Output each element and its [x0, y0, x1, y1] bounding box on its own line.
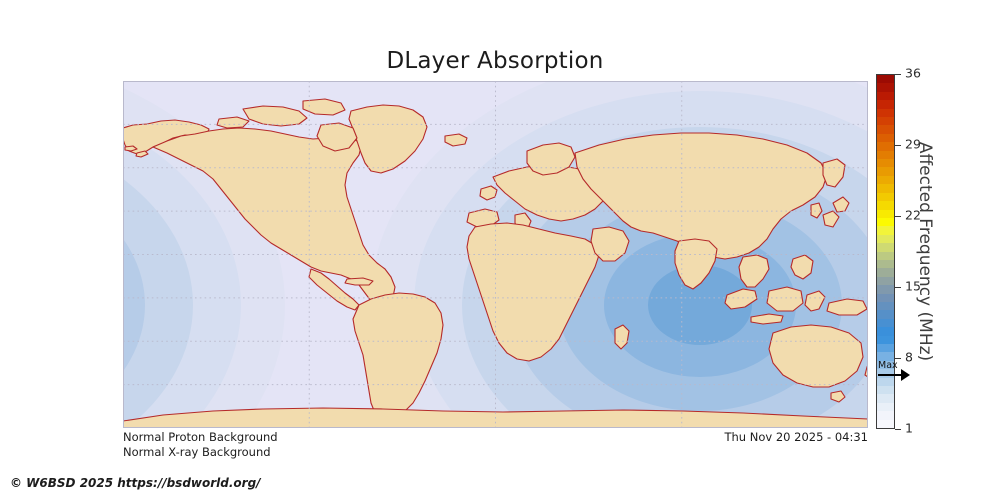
colorbar-band: [877, 100, 894, 108]
colorbar-band: [877, 344, 894, 352]
colorbar-band: [877, 134, 894, 142]
colorbar-band: [877, 394, 894, 402]
colorbar-band: [877, 411, 894, 419]
world-map-axes[interactable]: [123, 81, 868, 428]
colorbar-band: [877, 151, 894, 159]
colorbar-band: [877, 420, 894, 428]
colorbar-band: [877, 176, 894, 184]
colorbar-band: [877, 184, 894, 192]
colorbar[interactable]: 3629221581 Max: [876, 74, 895, 429]
colorbar-band: [877, 75, 894, 83]
colorbar-tick-mark: [895, 74, 901, 75]
colorbar-tick-label: 1: [905, 422, 913, 435]
colorbar-band: [877, 193, 894, 201]
colorbar-band: [877, 243, 894, 251]
colorbar-band: [877, 226, 894, 234]
colorbar-band: [877, 252, 894, 260]
colorbar-band: [877, 117, 894, 125]
land-borneo: [767, 287, 803, 311]
colorbar-band: [877, 218, 894, 226]
figure-canvas: DLayer Absorption: [0, 0, 1000, 500]
colorbar-band: [877, 235, 894, 243]
proton-background-note: Normal Proton Background: [123, 430, 278, 445]
colorbar-band: [877, 352, 894, 360]
colorbar-band: [877, 210, 894, 218]
colorbar-band: [877, 92, 894, 100]
colorbar-band: [877, 336, 894, 344]
colorbar-band: [877, 83, 894, 91]
page-title: DLayer Absorption: [0, 48, 990, 74]
colorbar-band: [877, 125, 894, 133]
colorbar-band: [877, 294, 894, 302]
colorbar-band: [877, 361, 894, 369]
land-iceland: [445, 134, 467, 146]
colorbar-tick-label: 8: [905, 351, 913, 364]
credit-line: © W6BSD 2025 https://bsdworld.org/: [10, 476, 261, 490]
colorbar-band: [877, 277, 894, 285]
colorbar-gradient: [876, 74, 895, 429]
colorbar-band: [877, 310, 894, 318]
colorbar-band: [877, 159, 894, 167]
xray-background-note: Normal X-ray Background: [123, 445, 278, 460]
colorbar-axis-label: Affected Frequency (MHz): [913, 74, 937, 429]
colorbar-band: [877, 109, 894, 117]
colorbar-band: [877, 142, 894, 150]
colorbar-tick-mark: [895, 216, 901, 217]
colorbar-band: [877, 260, 894, 268]
colorbar-band: [877, 369, 894, 377]
colorbar-band: [877, 268, 894, 276]
colorbar-band: [877, 285, 894, 293]
colorbar-tick-mark: [895, 429, 901, 430]
colorbar-band: [877, 403, 894, 411]
world-map: [123, 81, 868, 428]
timestamp: Thu Nov 20 2025 - 04:31: [724, 430, 868, 445]
colorbar-band: [877, 327, 894, 335]
colorbar-band: [877, 201, 894, 209]
colorbar-band: [877, 319, 894, 327]
background-status-notes: Normal Proton Background Normal X-ray Ba…: [123, 430, 278, 459]
colorbar-tick-mark: [895, 358, 901, 359]
colorbar-tick-mark: [895, 287, 901, 288]
colorbar-band: [877, 378, 894, 386]
colorbar-band: [877, 167, 894, 175]
colorbar-band: [877, 386, 894, 394]
colorbar-band: [877, 302, 894, 310]
colorbar-tick-mark: [895, 145, 901, 146]
